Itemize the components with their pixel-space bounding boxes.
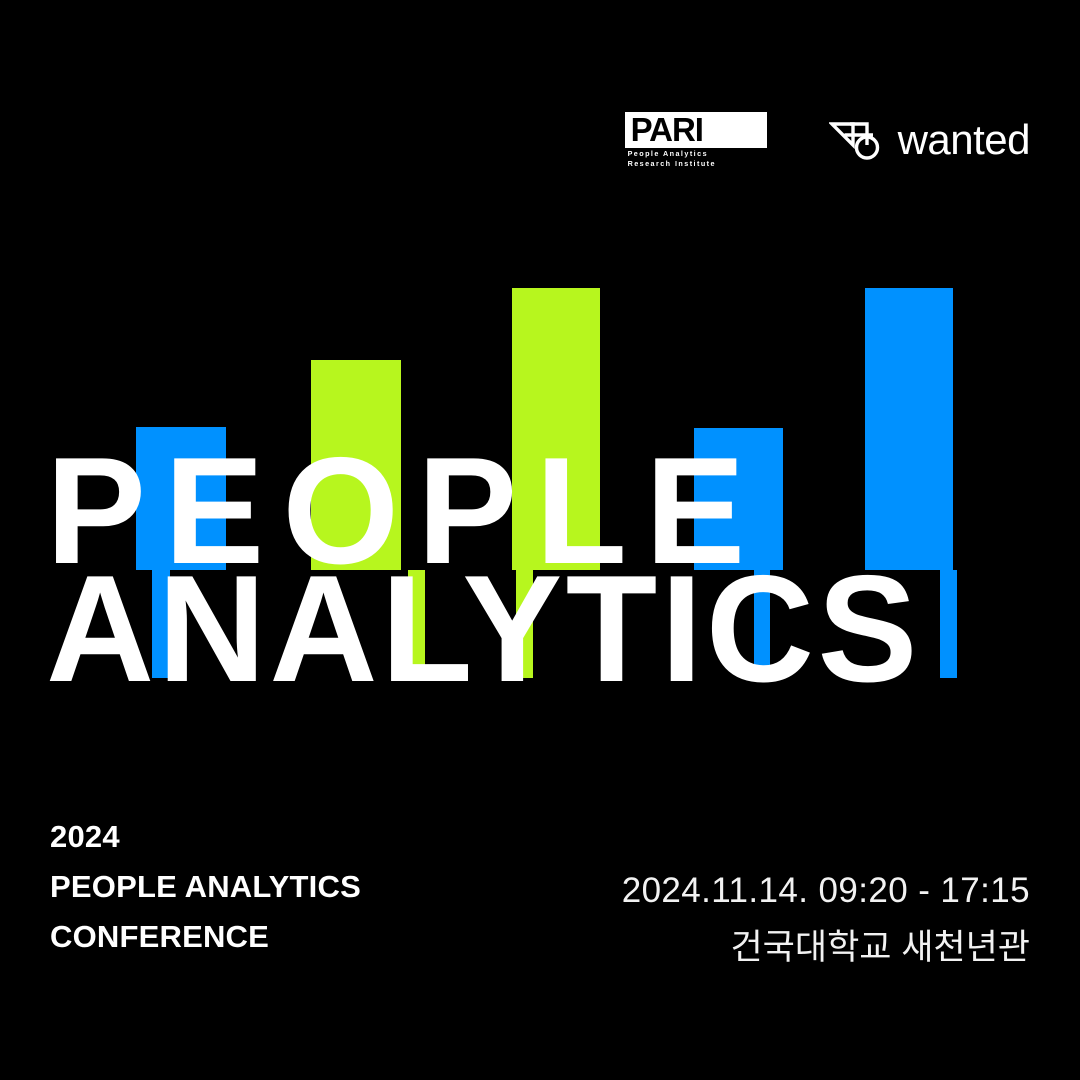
pari-subtitle: People Analytics Research Institute [628,149,770,168]
pari-subtitle-line2: Research Institute [628,159,770,169]
logo-row: PARI People Analytics Research Institute… [0,100,1080,180]
footer-event-type: CONFERENCE [50,912,361,962]
footer-datetime: 2024.11.14. 09:20 - 17:15 [622,862,1030,919]
footer-event-name: PEOPLE ANALYTICS [50,862,361,912]
footer-right-block: 2024.11.14. 09:20 - 17:15 건국대학교 새천년관 [622,862,1030,976]
conference-poster: PEOPLE ANALYTICS PARI People Analytics R… [0,0,1080,1080]
pari-logo: PARI People Analytics Research Institute [625,112,767,168]
pari-wordmark: PARI [625,112,767,148]
poster-headline: PEOPLE ANALYTICS [46,452,1046,688]
wanted-geometric-mark-icon [829,118,881,162]
pari-subtitle-line1: People Analytics [628,149,770,159]
footer-left-block: 2024 PEOPLE ANALYTICS CONFERENCE [50,812,361,962]
headline-line-analytics: ANALYTICS [46,570,1032,688]
wanted-logo: wanted [829,118,1030,162]
wanted-wordmark: wanted [898,119,1030,161]
footer-year: 2024 [50,812,361,862]
footer-venue: 건국대학교 새천년관 [622,919,1030,976]
